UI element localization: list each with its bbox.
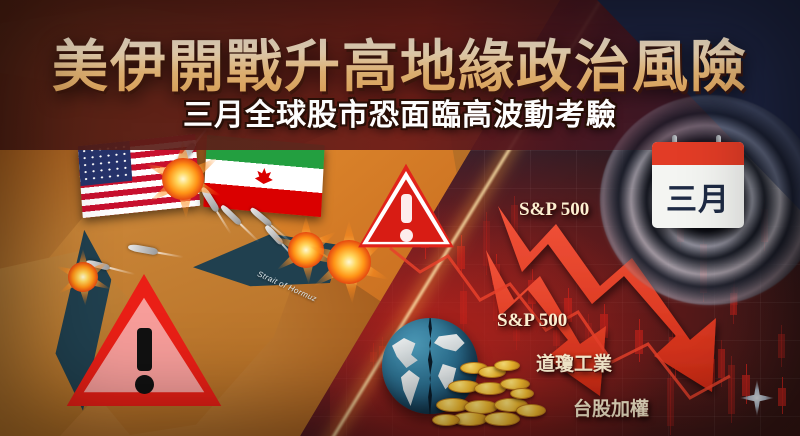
page-subtitle: 三月全球股市恐面臨高波動考驗: [0, 90, 800, 134]
warning-triangle-icon-small: [354, 160, 458, 255]
index-label-taiex: 台股加權: [573, 394, 649, 421]
calendar-month-label: 三月: [652, 165, 744, 228]
calendar-icon: 三月: [652, 142, 744, 228]
infographic-banner: Strait of Hormuz: [0, 0, 800, 436]
gold-coin-icon: [516, 404, 546, 417]
exclamation-bar: [137, 328, 152, 371]
calendar-body: 三月: [652, 142, 744, 228]
gold-coin-icon: [494, 360, 520, 371]
gold-coin-icon: [432, 414, 460, 426]
gold-coin-pile-icon: [432, 358, 552, 430]
calendar-header: [652, 142, 744, 165]
globe-continent: [400, 370, 424, 406]
index-label-sp500-top: S&P 500: [519, 199, 589, 221]
index-label-sp500-mid: S&P 500: [497, 310, 567, 332]
gold-coin-icon: [510, 388, 534, 399]
exclamation-bar: [401, 194, 412, 223]
warning-triangle-icon-large: [60, 268, 228, 418]
exclamation-dot: [135, 375, 154, 394]
index-label-dow-jones: 道瓊工業: [536, 349, 612, 376]
globe-continent: [392, 338, 422, 368]
gold-coin-icon: [484, 412, 520, 426]
exclamation-dot: [400, 229, 413, 242]
